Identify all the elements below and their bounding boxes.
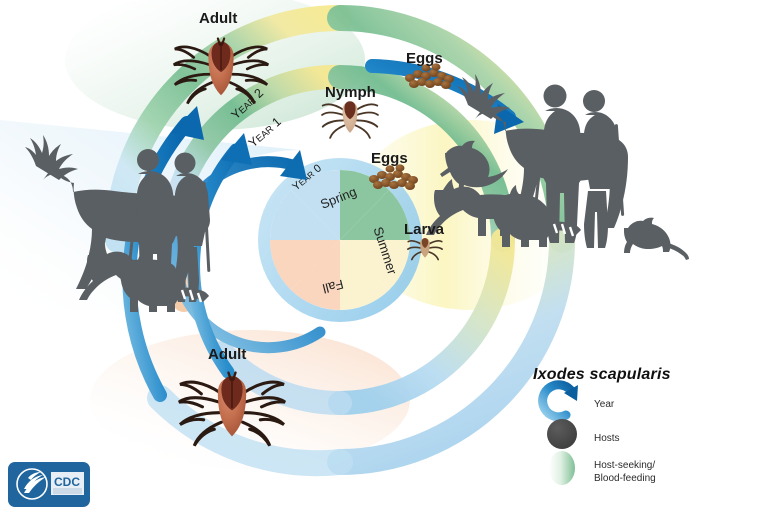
legend-year-arc-icon — [543, 385, 578, 417]
label-adult-bottom: Adult — [208, 346, 246, 363]
nymph-tick — [322, 101, 378, 138]
label-eggs-outer: Eggs — [406, 50, 443, 67]
legend-hosts-circle-icon — [547, 419, 577, 449]
cdc-logo-text: CDC — [54, 475, 80, 489]
legend-host-seeking-gradient-icon — [549, 451, 575, 485]
tick-life-cycle-diagram: Spring Summer Fall Winter YEAR 0 YEAR 1 … — [0, 0, 774, 515]
legend-label-host-seeking-line1: Host-seeking/ — [594, 460, 655, 471]
legend-label-host-seeking-line2: Blood-feeding — [594, 473, 656, 484]
mouse-silhouette-right — [624, 218, 689, 260]
legend-title: Ixodes scapularis — [533, 366, 671, 384]
legend-icons — [543, 385, 578, 485]
legend-label-host-seeking: Host-seeking/ Blood-feeding — [594, 460, 656, 485]
legend-label-hosts: Hosts — [594, 433, 620, 446]
label-nymph: Nymph — [325, 84, 376, 101]
diagram-canvas: Spring Summer Fall Winter YEAR 0 YEAR 1 … — [0, 0, 774, 515]
cdc-logo[interactable]: CDC — [8, 462, 90, 507]
legend-label-year: Year — [594, 399, 614, 412]
label-adult-top: Adult — [199, 10, 237, 27]
label-eggs-inner: Eggs — [371, 150, 408, 167]
label-larva: Larva — [404, 221, 444, 238]
